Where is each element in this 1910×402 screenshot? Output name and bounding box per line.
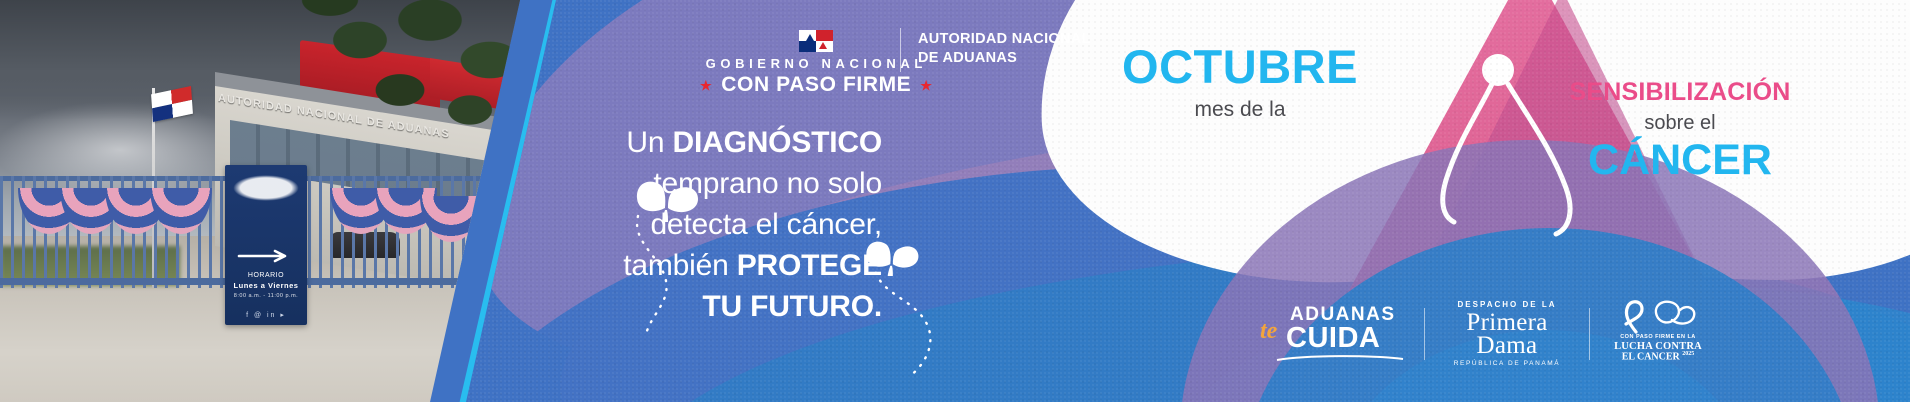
logo-separator: [1589, 308, 1590, 360]
signboard-logo: [233, 175, 299, 201]
slogan-line-2: temprano no solo: [562, 163, 882, 204]
panama-flag-icon: [799, 30, 833, 52]
star-right-icon: ★: [920, 79, 932, 92]
dama-line-1: DESPACHO DE LA: [1441, 300, 1573, 309]
dama-line-4: REPÚBLICA DE PANAMÁ: [1441, 360, 1573, 367]
slogan-line-5: TU FUTURO.: [562, 286, 882, 327]
awareness-keyword: CÁNCER: [1530, 137, 1830, 183]
aduanas-building-photo: AUTORIDAD NACIONAL DE ADUANAS HORARIO Lu…: [0, 0, 520, 402]
header-divider: [900, 28, 901, 72]
government-slogan: CON PASO FIRME: [721, 73, 911, 97]
government-line-2: ★ CON PASO FIRME ★: [700, 73, 933, 97]
october-title: OCTUBRE: [1110, 42, 1370, 92]
logo-word-cuida: CUIDA: [1286, 322, 1380, 355]
slogan-text: Un DIAGNÓSTICO temprano no solo detecta …: [562, 122, 882, 327]
slogan-line-1: Un DIAGNÓSTICO: [562, 122, 882, 163]
slogan-line-4: también PROTEGE: [562, 245, 882, 286]
agency-name: AUTORIDAD NACIONAL DE ADUANAS: [918, 30, 1091, 68]
signboard-social-icons: f @ in ▸: [225, 311, 307, 319]
slogan-l4-plain: también: [623, 249, 736, 282]
government-logo: GOBIERNO NACIONAL ★ CON PASO FIRME ★: [700, 30, 933, 97]
lucha-year: 2025: [1682, 351, 1694, 357]
arrow-right-icon: [237, 249, 295, 263]
aduanas-te-cuida-logo: te ADUANAS CUIDA: [1258, 298, 1408, 360]
government-line-1: GOBIERNO NACIONAL: [700, 56, 933, 71]
primera-dama-logo: DESPACHO DE LA Primera Dama REPÚBLICA DE…: [1441, 298, 1573, 360]
agency-line-2: DE ADUANAS: [918, 49, 1091, 68]
dama-line-2: Primera: [1441, 311, 1573, 334]
slogan-l4-bold: PROTEGE: [737, 249, 882, 282]
tree-foliage: [300, 0, 520, 180]
slogan-line-3: detecta el cáncer,: [562, 204, 882, 245]
october-block: OCTUBRE mes de la: [1110, 42, 1370, 122]
dama-line-3: Dama: [1441, 334, 1573, 358]
awareness-block: SENSIBILIZACIÓN sobre el CÁNCER: [1530, 78, 1830, 183]
dotted-trail: [870, 262, 960, 382]
star-left-icon: ★: [700, 79, 712, 92]
awareness-subtitle: sobre el: [1530, 111, 1830, 135]
swoosh-icon: [1276, 354, 1404, 362]
lucha-line-3-text: EL CANCER: [1622, 351, 1680, 362]
schedule-hours: 8:00 a.m. - 11:00 p.m.: [234, 293, 298, 299]
signboard-schedule: HORARIO Lunes a Viernes 8:00 a.m. - 11:0…: [225, 271, 307, 301]
logo-word-te: te: [1260, 318, 1277, 345]
awareness-banner: AUTORIDAD NACIONAL DE ADUANAS HORARIO Lu…: [0, 0, 1910, 402]
lucha-line-1: CON PASO FIRME EN LA: [1606, 334, 1710, 340]
ribbon-butterfly-icon: [1614, 296, 1702, 334]
footer-logos: te ADUANAS CUIDA DESPACHO DE LA Primera …: [1258, 296, 1710, 360]
slogan-l1-plain: Un: [626, 126, 672, 159]
agency-line-1: AUTORIDAD NACIONAL: [918, 30, 1091, 49]
schedule-days: Lunes a Viernes: [225, 281, 307, 291]
lucha-line-3: EL CANCER 2025: [1606, 351, 1710, 362]
entrance-signboard: HORARIO Lunes a Viernes 8:00 a.m. - 11:0…: [225, 165, 307, 325]
lucha-contra-el-cancer-logo: CON PASO FIRME EN LA LUCHA CONTRA EL CAN…: [1606, 296, 1710, 360]
awareness-title: SENSIBILIZACIÓN: [1530, 78, 1830, 106]
schedule-label: HORARIO: [248, 272, 284, 279]
logo-separator: [1424, 308, 1425, 360]
slogan-l5-bold: TU FUTURO.: [702, 290, 882, 323]
october-subtitle: mes de la: [1110, 98, 1370, 122]
slogan-l1-bold: DIAGNÓSTICO: [673, 126, 882, 159]
